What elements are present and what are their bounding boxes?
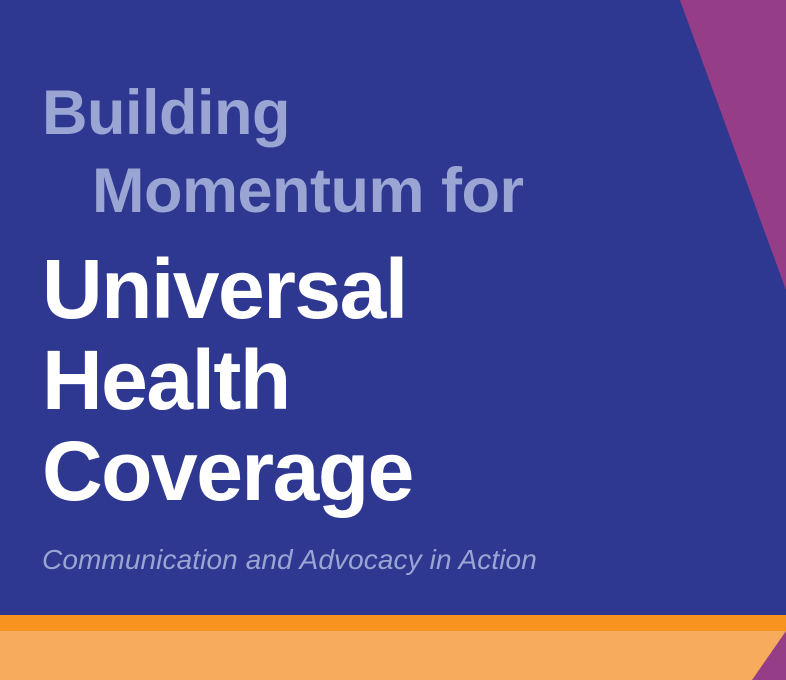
cover-kicker: Building Momentum for [42, 74, 786, 230]
cover-page: Building Momentum for Universal Health C… [0, 0, 786, 680]
headline-line-2: Health [42, 335, 786, 426]
light-orange-band [0, 631, 786, 680]
orange-stripe-band [0, 615, 786, 631]
kicker-line-2: Momentum for [42, 152, 786, 230]
headline-line-3: Coverage [42, 426, 786, 517]
purple-corner-triangle-shape [752, 631, 786, 680]
headline-line-1: Universal [42, 244, 786, 335]
kicker-line-1: Building [42, 74, 786, 152]
cover-tagline: Communication and Advocacy in Action [42, 543, 786, 577]
cover-headline: Universal Health Coverage [42, 244, 786, 517]
cover-text-block: Building Momentum for Universal Health C… [42, 74, 786, 577]
